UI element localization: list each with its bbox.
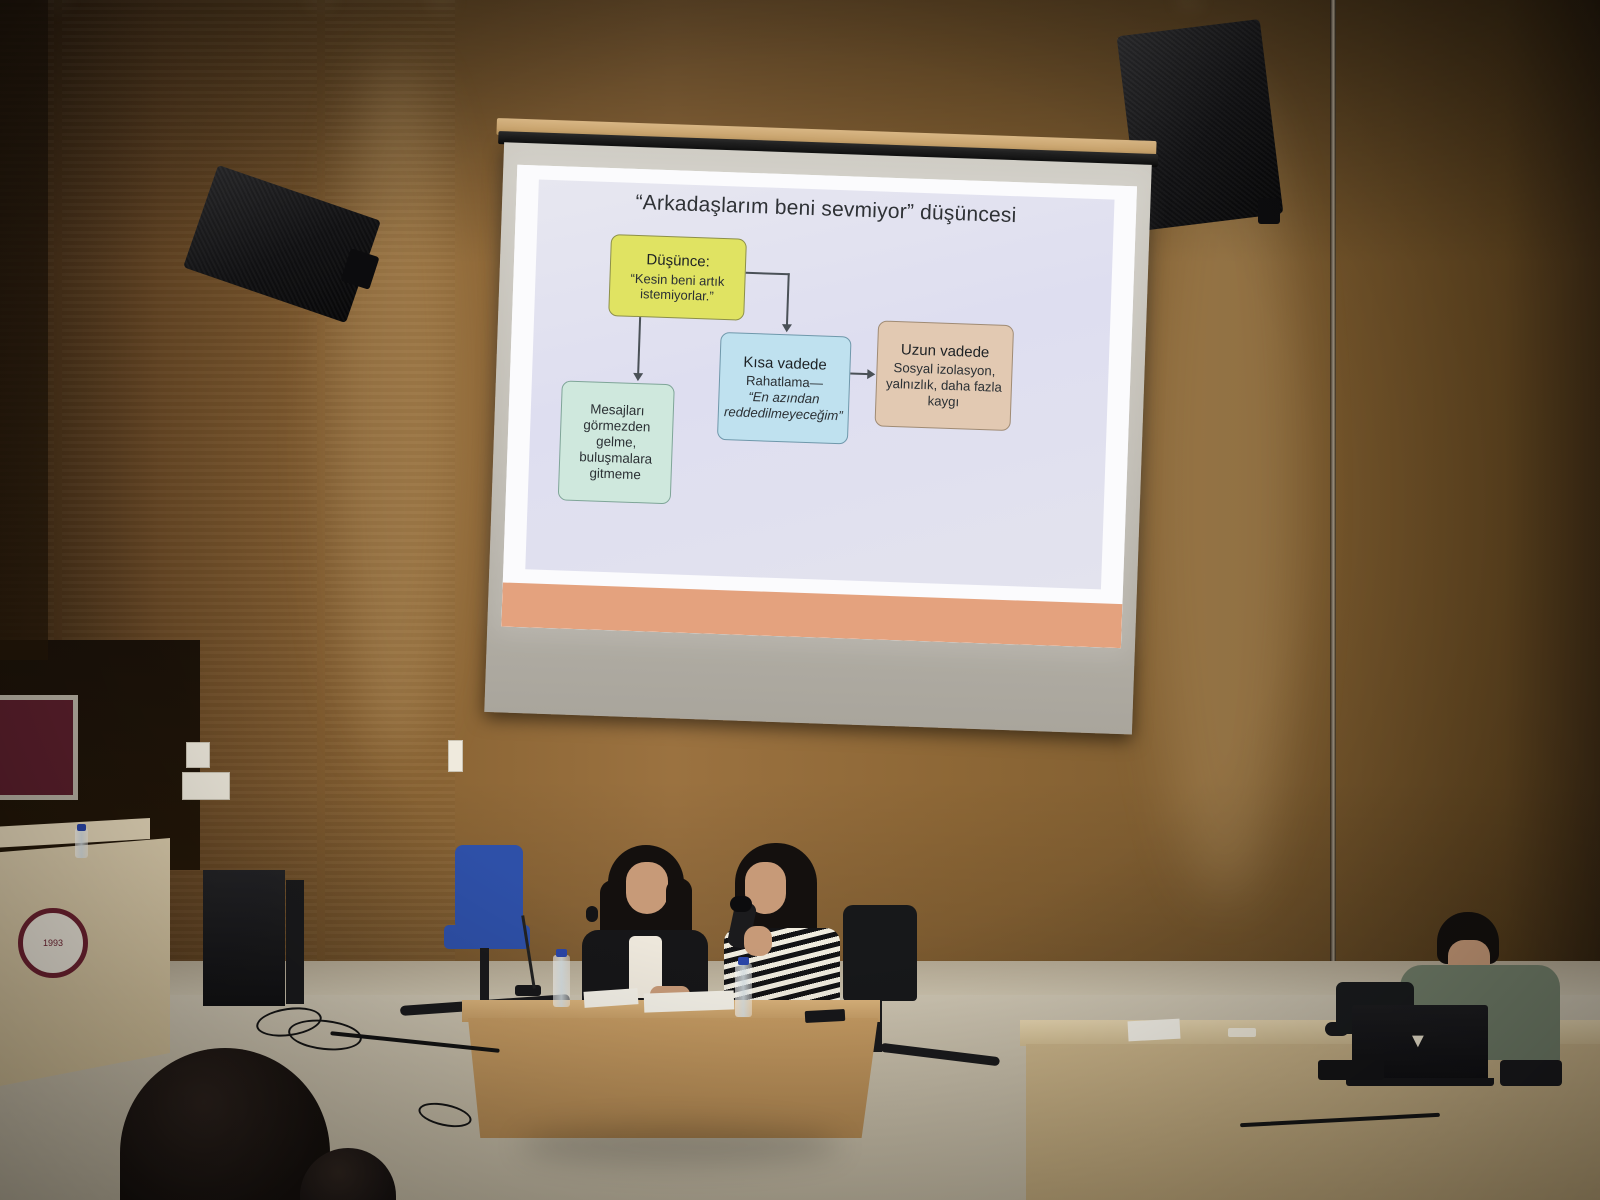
- arrowhead-right: [867, 369, 875, 379]
- external-device: [1500, 1060, 1562, 1086]
- wall-socket[interactable]: [448, 740, 463, 772]
- projection-screen-assembly: “Arkadaşlarım beni sevmiyor” düşüncesi D…: [476, 118, 1157, 741]
- chair-blue-post: [480, 948, 489, 1006]
- diagram-node-short-term: Kısa vadede Rahatlama— “En azından redde…: [717, 332, 852, 445]
- wall-glow: [330, 60, 460, 760]
- arrowhead-down: [633, 373, 643, 381]
- node-heading: Düşünce:: [646, 251, 710, 271]
- node-body: Mesajları görmezden gelme, buluşmalara g…: [566, 401, 666, 483]
- face: [626, 862, 668, 914]
- laptop-logo: ▼: [1408, 1031, 1428, 1051]
- hand: [744, 926, 772, 956]
- speaker-mount-bracket: [1258, 198, 1280, 224]
- bottle-cap: [77, 824, 86, 831]
- chair-blue-back[interactable]: [455, 845, 523, 927]
- node-body: “Kesin beni artık istemiyorlar.”: [617, 270, 738, 305]
- node-body: Sosyal izolasyon, yalnızlık, daha fazla …: [883, 360, 1005, 411]
- presenter-table-front: [468, 1018, 878, 1138]
- microphone-capsule: [586, 906, 598, 922]
- water-bottle: [553, 955, 570, 1007]
- papers: [644, 990, 735, 1012]
- arrowhead-down: [782, 324, 792, 332]
- chair-dark-back[interactable]: [843, 905, 917, 1001]
- node-heading: Kısa vadede: [743, 354, 827, 375]
- floor-speaker-side: [286, 880, 304, 1004]
- papers: [1128, 1019, 1181, 1042]
- light-switch[interactable]: [186, 742, 210, 768]
- eraser: [1228, 1028, 1256, 1037]
- chair-blue-seat[interactable]: [444, 925, 530, 949]
- diagram-node-thought: Düşünce: “Kesin beni artık istemiyorlar.…: [608, 234, 747, 321]
- floor-speaker: [203, 870, 285, 1006]
- node-heading: Uzun vadede: [901, 341, 990, 362]
- framed-screen: [0, 695, 78, 800]
- table-shadow: [520, 1125, 840, 1165]
- slide-canvas: “Arkadaşlarım beni sevmiyor” düşüncesi D…: [501, 165, 1137, 648]
- diagram-node-behaviour: Mesajları görmezden gelme, buluşmalara g…: [558, 380, 675, 504]
- microphone-head: [730, 896, 752, 912]
- wall-recess: [0, 0, 48, 660]
- bottle-cap: [556, 949, 567, 957]
- wall-seam: [1330, 0, 1336, 1020]
- water-bottle: [75, 828, 88, 858]
- light-switch[interactable]: [182, 772, 230, 800]
- microphone-base: [515, 985, 541, 996]
- bottle-cap: [738, 957, 749, 965]
- smartphone[interactable]: [805, 1009, 846, 1023]
- water-bottle: [735, 963, 752, 1017]
- node-body-italic: “En azından reddedilmeyeceğim”: [724, 388, 844, 423]
- auditorium-scene: “Arkadaşlarım beni sevmiyor” düşüncesi D…: [0, 0, 1600, 1200]
- screen-fabric: “Arkadaşlarım beni sevmiyor” düşüncesi D…: [484, 142, 1151, 734]
- slide-accent-band: [501, 582, 1122, 648]
- external-device: [1318, 1060, 1384, 1080]
- university-emblem: 1993: [18, 908, 88, 978]
- emblem-year: 1993: [43, 938, 63, 948]
- projected-slide: “Arkadaşlarım beni sevmiyor” düşüncesi D…: [501, 165, 1137, 648]
- diagram-node-long-term: Uzun vadede Sosyal izolasyon, yalnızlık,…: [874, 320, 1014, 431]
